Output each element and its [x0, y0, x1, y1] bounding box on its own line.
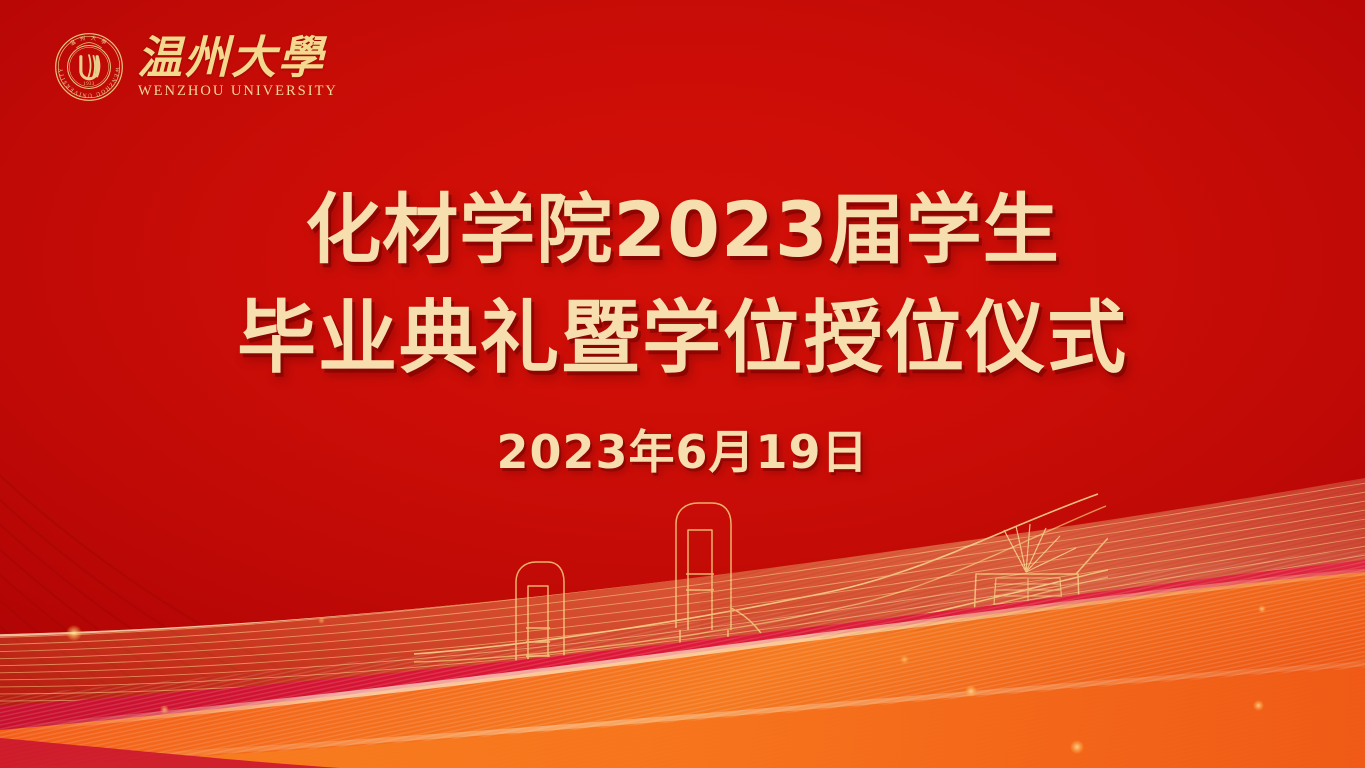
logo-name-cn: 温州大學: [137, 36, 338, 82]
headline-block: 化材学院2023届学生 毕业典礼暨学位授位仪式 2023年6月19日: [0, 176, 1365, 482]
svg-text:1933: 1933: [83, 82, 94, 87]
graduation-ceremony-backdrop: WENZHOU UNIVERSITY 温 州 大 學 1933: [0, 0, 1365, 768]
logo-name-en: WENZHOU UNIVERSITY: [137, 83, 338, 100]
wenzhou-university-crest-icon: WENZHOU UNIVERSITY 温 州 大 學 1933: [52, 30, 126, 104]
event-title-line-2: 毕业典礼暨学位授位仪式: [0, 284, 1365, 392]
event-date: 2023年6月19日: [0, 422, 1365, 482]
logo-wordmark: 温州大學 WENZHOU UNIVERSITY: [137, 34, 338, 100]
event-title-line-1: 化材学院2023届学生: [0, 176, 1365, 284]
university-logo[interactable]: WENZHOU UNIVERSITY 温 州 大 學 1933: [52, 26, 338, 108]
